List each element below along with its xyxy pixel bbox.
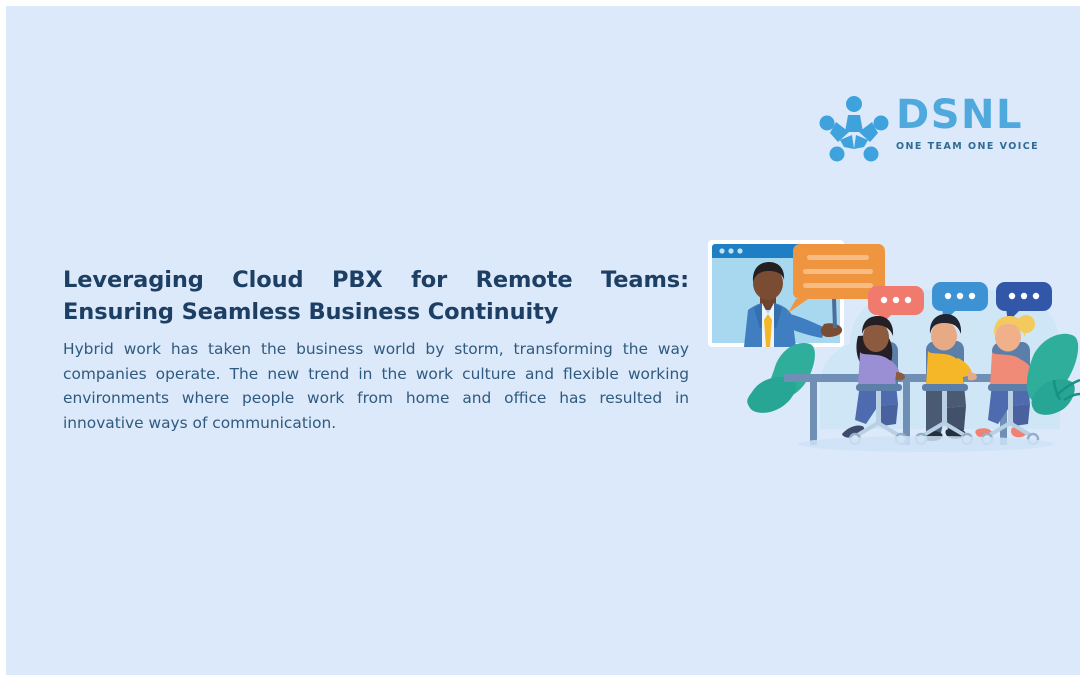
page-title: Leveraging Cloud PBX for Remote Teams: E… (63, 264, 689, 328)
bubble-dot (881, 297, 887, 303)
bubble-dot (957, 293, 963, 299)
bubble-dot (1009, 293, 1015, 299)
window-dot (728, 248, 733, 253)
window-dot (719, 248, 724, 253)
bubble-dot (893, 297, 899, 303)
bubble-dot (1021, 293, 1027, 299)
bubble-dot (969, 293, 975, 299)
window-dot (737, 248, 742, 253)
remote-team-illustration (700, 224, 1080, 464)
logo-wordmark: DSNL (896, 92, 1032, 138)
bubble-dot (945, 293, 951, 299)
article-content: Leveraging Cloud PBX for Remote Teams: E… (63, 264, 689, 435)
logo-text-block: DSNL ONE TEAM ONE VOICE (896, 92, 1032, 154)
poster-page: DSNL ONE TEAM ONE VOICE Leveraging Cloud… (0, 0, 1080, 675)
people-star-icon (818, 94, 890, 166)
bubble-line (803, 269, 873, 274)
bubble-line (807, 255, 869, 260)
bubble-line (803, 283, 873, 288)
floor-shadow (798, 436, 1054, 452)
bubble-dot (1033, 293, 1039, 299)
logo-tagline: ONE TEAM ONE VOICE (896, 140, 1032, 154)
hair-bun (1017, 315, 1035, 333)
poster-canvas: DSNL ONE TEAM ONE VOICE Leveraging Cloud… (6, 6, 1080, 675)
bubble-dot (905, 297, 911, 303)
brand-logo[interactable]: DSNL ONE TEAM ONE VOICE (818, 92, 1032, 168)
article-body-paragraph: Hybrid work has taken the business world… (63, 337, 689, 435)
